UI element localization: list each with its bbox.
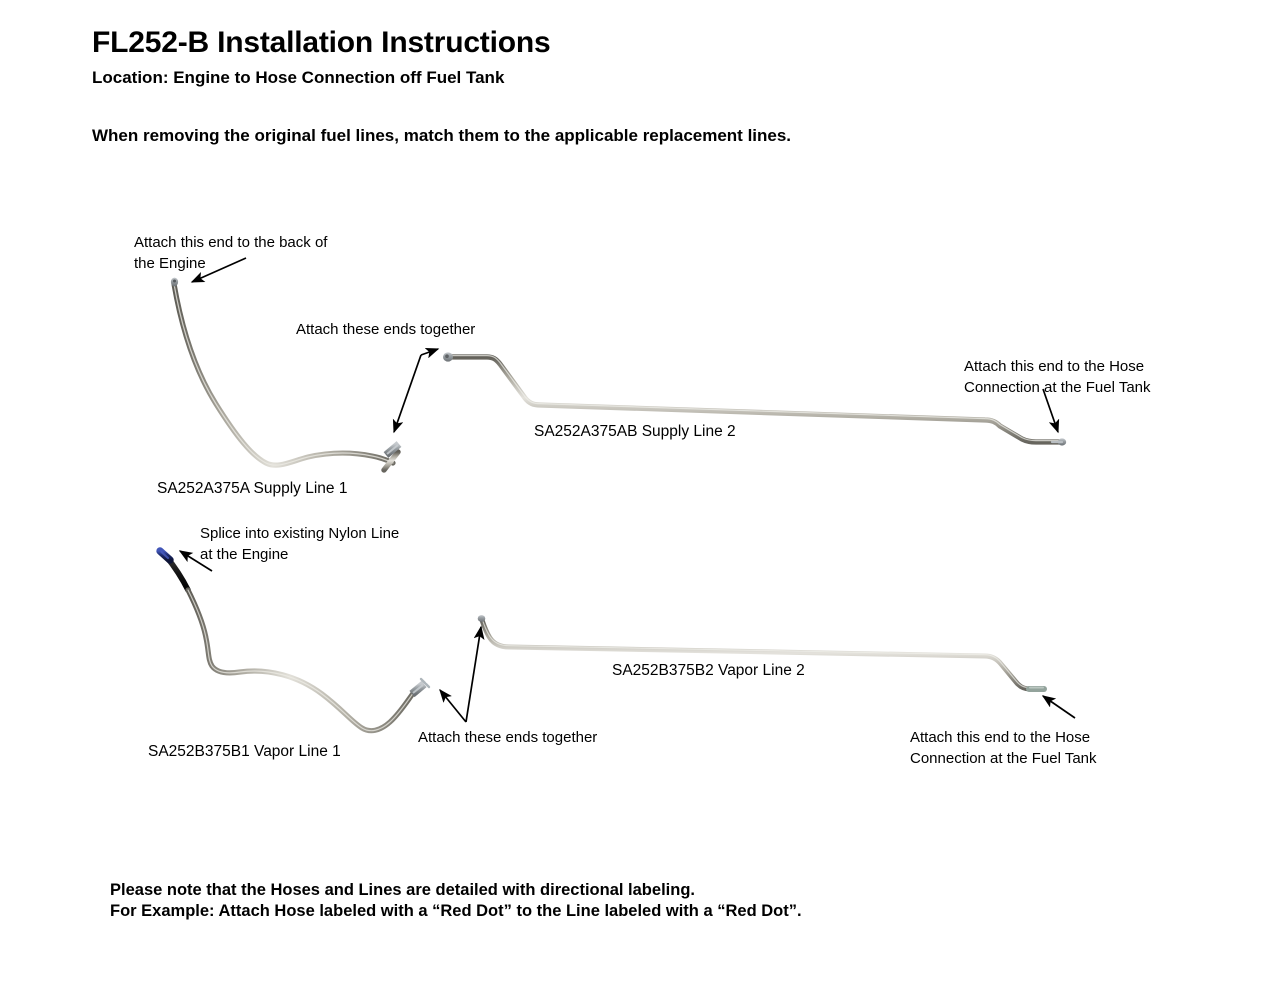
part-label-supply-line-2: SA252A375AB Supply Line 2 xyxy=(534,423,736,441)
arrow-vapor-tank-end xyxy=(1043,696,1075,718)
arrow-vapor-ends-together xyxy=(440,627,481,722)
vapor-line-2-tank-end xyxy=(1029,688,1044,689)
vapor-line-1-splice-hose xyxy=(166,556,188,590)
page-subtitle: Location: Engine to Hose Connection off … xyxy=(92,68,504,88)
part-label-supply-line-1: SA252A375A Supply Line 1 xyxy=(157,480,347,498)
instruction-sheet: FL252-B Installation Instructions Locati… xyxy=(0,0,1280,989)
arrow-supply-ends-together xyxy=(394,349,438,432)
annotation-splice-nylon-2: at the Engine xyxy=(200,544,288,565)
vapor-line-1-blue-connector xyxy=(160,551,170,560)
part-label-vapor-line-2: SA252B375B2 Vapor Line 2 xyxy=(612,662,805,680)
annotation-engine-attach-1: Attach this end to the back of xyxy=(134,232,327,253)
supply-line-1-illustration xyxy=(171,278,399,470)
supply-line-1-engine-end xyxy=(171,278,178,287)
annotation-splice-nylon-1: Splice into existing Nylon Line xyxy=(200,523,399,544)
lead-instruction: When removing the original fuel lines, m… xyxy=(92,126,791,146)
vapor-line-1-quick-connect xyxy=(412,679,429,694)
footer-note-2: For Example: Attach Hose labeled with a … xyxy=(110,902,802,921)
annotation-vapor-hose-1: Attach this end to the Hose xyxy=(910,727,1090,748)
annotation-supply-hose-1: Attach this end to the Hose xyxy=(964,356,1144,377)
supply-line-2-coupler-end xyxy=(443,352,453,361)
annotation-supply-hose-2: Connection at the Fuel Tank xyxy=(964,377,1151,398)
supply-line-1-coupler-fitting xyxy=(386,444,399,455)
annotation-vapor-hose-2: Connection at the Fuel Tank xyxy=(910,748,1097,769)
vapor-line-2-coupler-end xyxy=(478,615,486,622)
vapor-line-1-illustration xyxy=(160,551,429,731)
supply-line-2-tank-end xyxy=(1052,438,1066,445)
annotation-vapor-ends: Attach these ends together xyxy=(418,727,597,748)
annotation-engine-attach-2: the Engine xyxy=(134,253,206,274)
part-label-vapor-line-1: SA252B375B1 Vapor Line 1 xyxy=(148,743,341,761)
page-title: FL252-B Installation Instructions xyxy=(92,26,550,60)
annotation-supply-ends: Attach these ends together xyxy=(296,319,475,340)
footer-note-1: Please note that the Hoses and Lines are… xyxy=(110,881,695,900)
